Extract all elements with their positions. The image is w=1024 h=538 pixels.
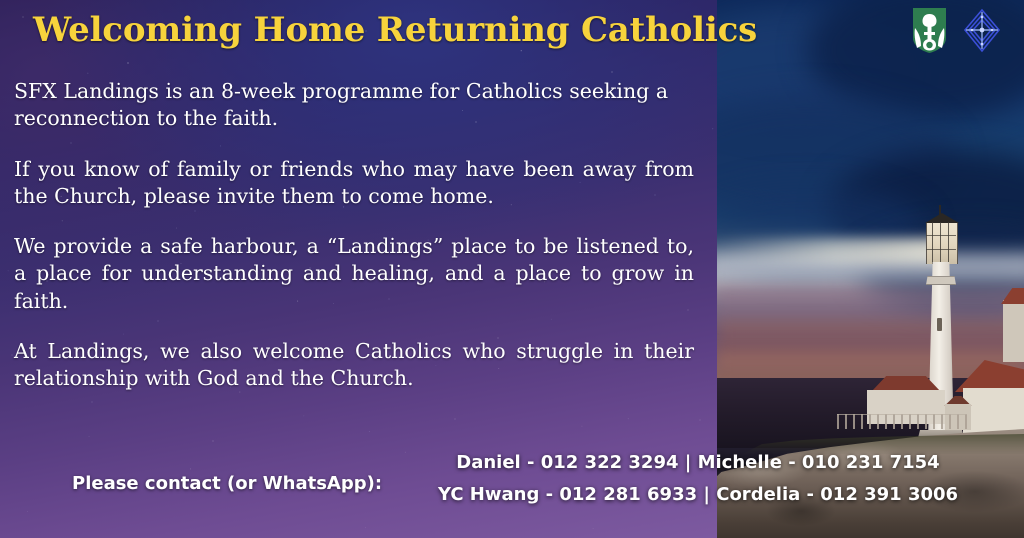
paragraph-2: If you know of family or friends who may…	[14, 156, 694, 211]
diocese-emblem-icon	[962, 8, 1002, 53]
contact-line-1[interactable]: Daniel - 012 322 3294 | Michelle - 010 2…	[418, 452, 978, 473]
lantern-glazing-bars	[926, 222, 956, 264]
body-copy: SFX Landings is an 8-week programme for …	[14, 78, 694, 392]
lighthouse-beam	[717, 238, 942, 264]
keeper-house-far	[1003, 300, 1024, 362]
contact-label: Please contact (or WhatsApp):	[72, 473, 382, 494]
contact-line-2[interactable]: YC Hwang - 012 281 6933 | Cordelia - 012…	[418, 484, 978, 505]
logo-group	[913, 8, 1002, 53]
paragraph-1: SFX Landings is an 8-week programme for …	[14, 78, 694, 133]
lighthouse-window	[937, 318, 942, 331]
dusk-sky-band	[717, 288, 1024, 322]
keeper-house-right	[963, 388, 1024, 434]
paragraph-3: We provide a safe harbour, a “Landings” …	[14, 233, 694, 315]
contact-details: Daniel - 012 322 3294 | Michelle - 010 2…	[418, 452, 978, 505]
parish-crest-icon	[913, 8, 946, 53]
cliff-fence	[837, 414, 967, 429]
lighthouse-gallery-band	[925, 276, 957, 285]
page-title: Welcoming Home Returning Catholics	[0, 10, 790, 50]
paragraph-4: At Landings, we also welcome Catholics w…	[14, 338, 694, 393]
poster-canvas: Welcoming Home Returning Catholics	[0, 0, 1024, 538]
